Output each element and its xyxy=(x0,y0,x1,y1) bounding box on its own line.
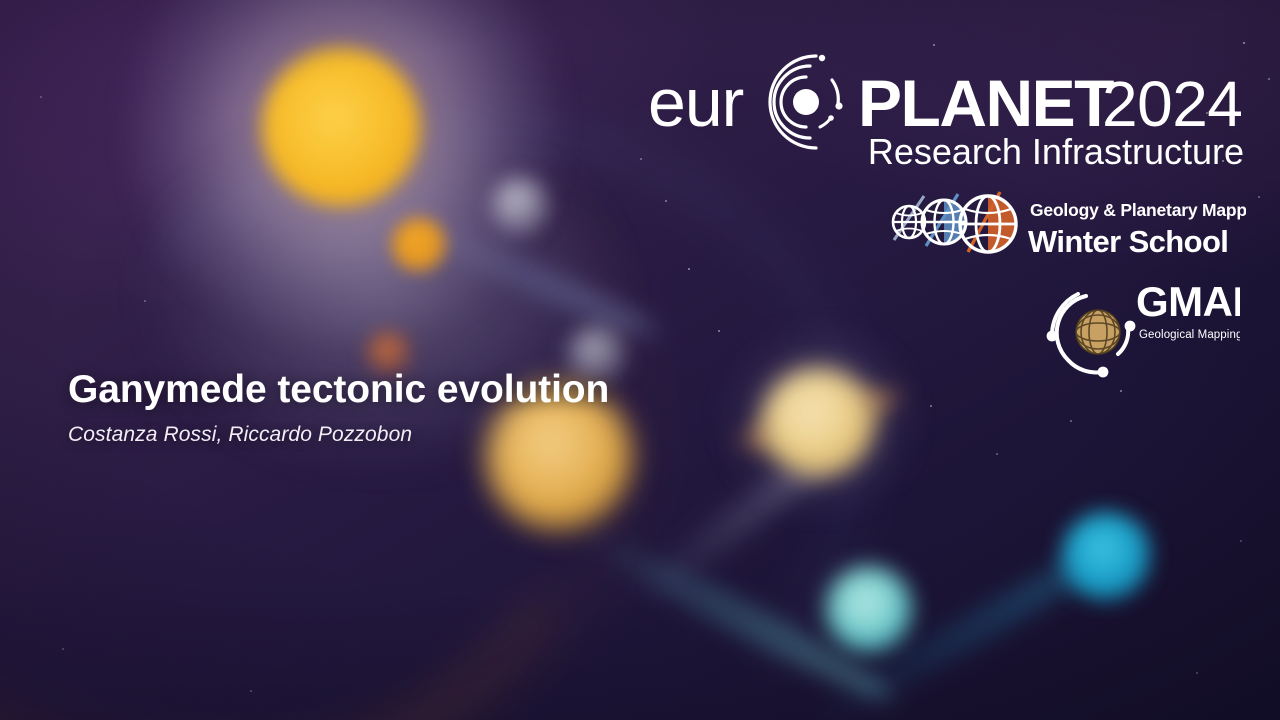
page-title: Ganymede tectonic evolution xyxy=(68,368,609,412)
star xyxy=(1196,672,1198,674)
star xyxy=(1268,78,1270,80)
gmap-title: GMAP xyxy=(1136,278,1240,325)
three-globes-icon xyxy=(893,192,1016,252)
europlanet-word-right: PLANET xyxy=(858,66,1114,140)
star xyxy=(1240,540,1242,542)
europlanet-year: 2024 xyxy=(1102,68,1242,140)
star xyxy=(62,648,64,650)
planet-neptune xyxy=(1062,512,1150,600)
star xyxy=(1120,390,1122,392)
star xyxy=(1243,42,1245,44)
planet-saturn xyxy=(762,368,874,476)
planet-venus xyxy=(490,176,550,236)
europlanet-word-left: eur xyxy=(648,65,744,141)
orbit-trail-inner xyxy=(387,202,673,351)
star xyxy=(1070,420,1072,422)
presentation-slide: Ganymede tectonic evolution Costanza Ros… xyxy=(0,0,1280,720)
orbit-trail-neptune xyxy=(799,512,1161,720)
sun xyxy=(262,48,420,206)
logo-stack: eur PLANET 2024 Research Infrastructure xyxy=(646,54,1246,384)
orbit-arc-orange-inner xyxy=(0,0,682,720)
europlanet-logo: eur PLANET 2024 Research Infrastructure xyxy=(646,54,1246,174)
star xyxy=(250,690,252,692)
gmap-subtitle: Geological Mapping xyxy=(1139,329,1240,341)
gmap-logo: GMAP Geological Mapping xyxy=(1040,276,1240,384)
winter-school-line1: Geology & Planetary Mapping xyxy=(1030,200,1246,220)
star xyxy=(930,405,932,407)
star xyxy=(40,96,42,98)
winter-school-logo: Geology & Planetary Mapping Winter Schoo… xyxy=(882,190,1246,262)
star xyxy=(1258,196,1260,198)
gmap-orbit-globe-icon xyxy=(1047,294,1136,377)
star xyxy=(144,300,146,302)
orbit-trail-saturn xyxy=(625,419,867,611)
orbit-trail-uranus xyxy=(573,517,907,716)
sun-halo xyxy=(128,0,558,340)
orbit-arc-orange-outer xyxy=(0,0,714,720)
star xyxy=(640,158,642,160)
author-list: Costanza Rossi, Riccardo Pozzobon xyxy=(68,423,609,447)
europlanet-tagline: Research Infrastructure xyxy=(868,131,1244,172)
star xyxy=(996,453,998,455)
title-block: Ganymede tectonic evolution Costanza Ros… xyxy=(68,368,609,447)
star xyxy=(933,44,935,46)
winter-school-line2: Winter School xyxy=(1028,224,1228,259)
planet-mercury xyxy=(392,218,446,272)
planet-o-icon xyxy=(770,55,843,148)
planet-uranus xyxy=(826,566,912,652)
